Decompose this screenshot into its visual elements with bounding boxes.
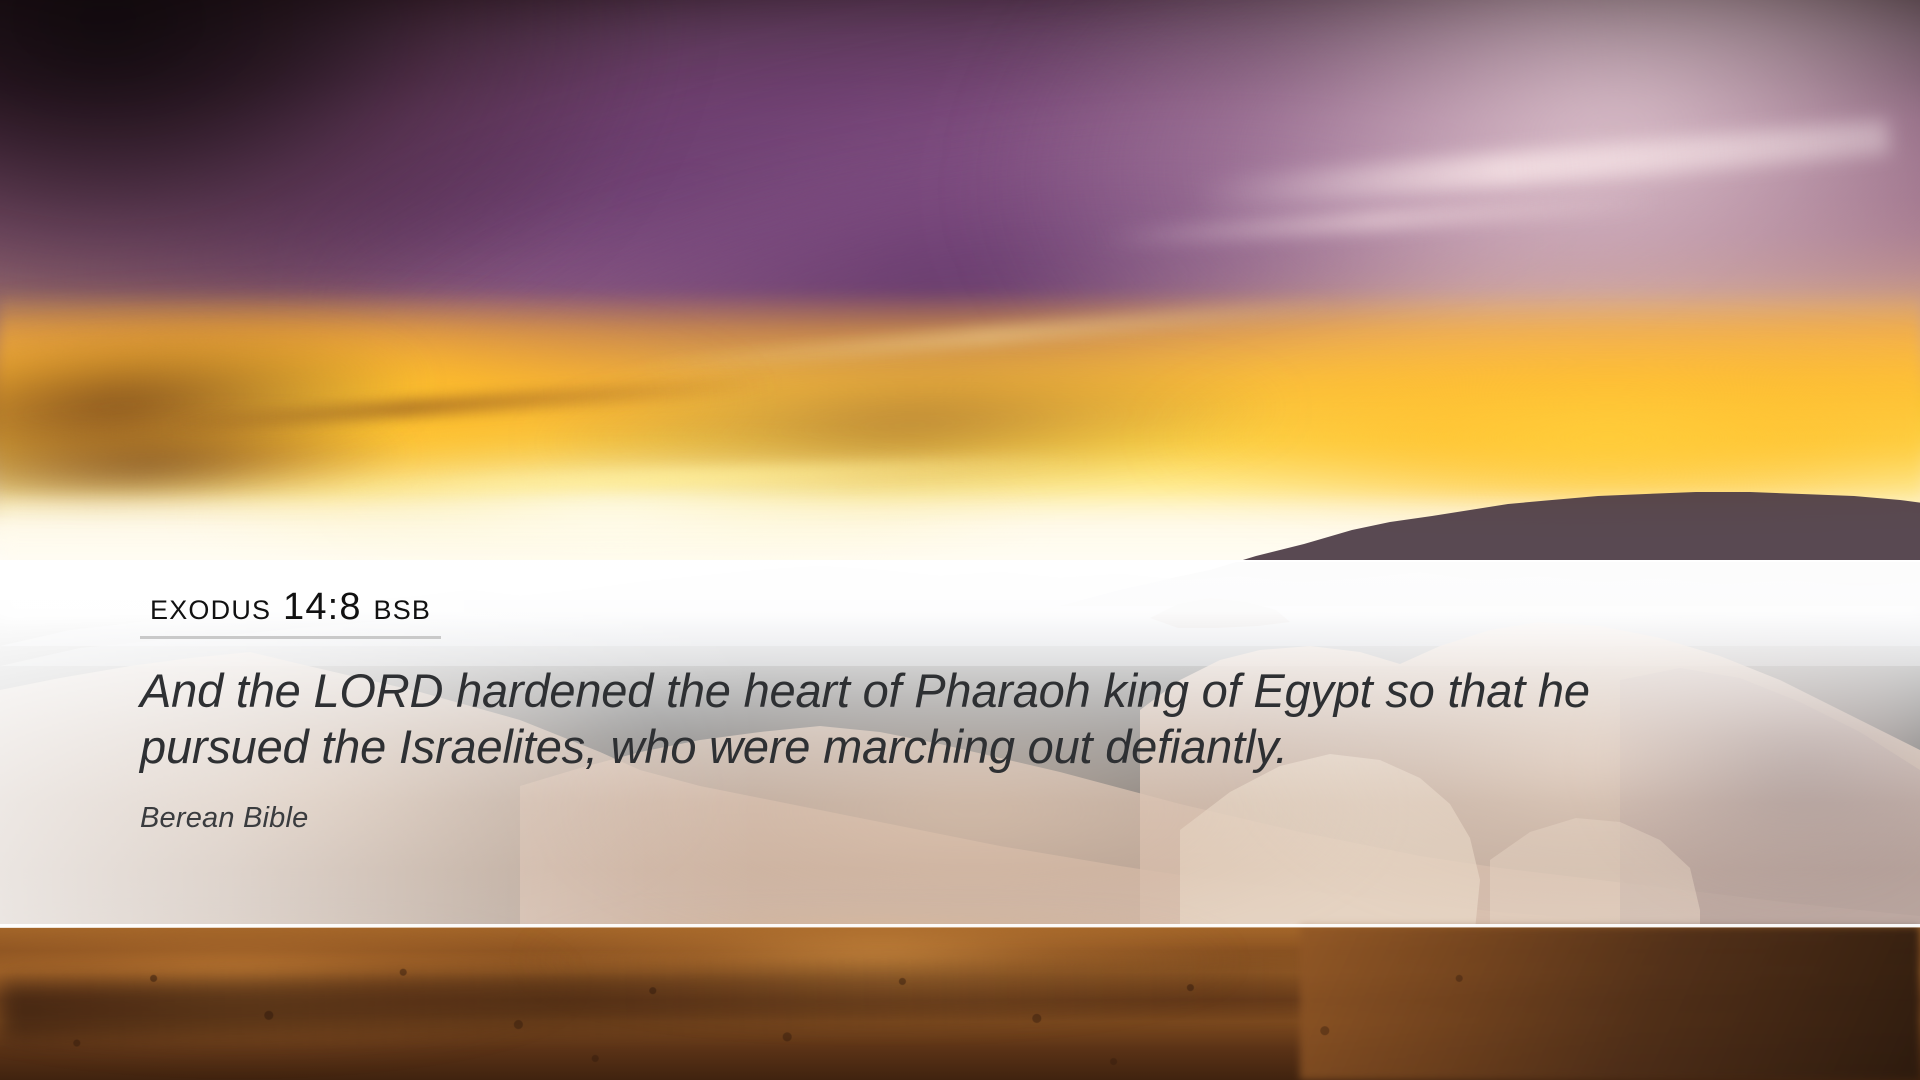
- band-top-rule: [0, 560, 1920, 562]
- band-bottom-rule: [0, 924, 1920, 927]
- foreground-speckle-texture: [0, 926, 1920, 1080]
- verse-reference: Exodus 14:8 BSB: [140, 586, 441, 639]
- verse-attribution: Berean Bible: [140, 802, 1820, 835]
- verse-body-text: And the LORD hardened the heart of Phara…: [140, 663, 1760, 776]
- verse-text-block: Exodus 14:8 BSB And the LORD hardened th…: [140, 586, 1820, 835]
- verse-wallpaper: Exodus 14:8 BSB And the LORD hardened th…: [0, 0, 1920, 1080]
